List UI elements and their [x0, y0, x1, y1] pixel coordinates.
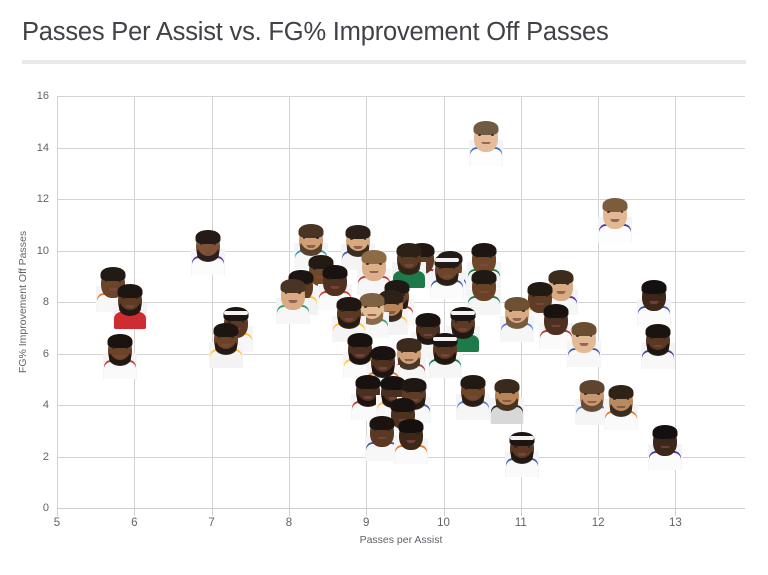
player-headshot-icon	[632, 317, 684, 369]
x-axis-title: Passes per Assist	[57, 534, 745, 546]
x-axis-tick-mark	[289, 508, 290, 516]
player-headshot-icon	[385, 412, 437, 464]
y-axis-title-label: FG% Improvement Off Passes	[17, 231, 29, 373]
x-axis-tick-label: 8	[286, 517, 292, 529]
scatter-point-headshot[interactable]	[267, 272, 319, 324]
y-axis-tick-label: 0	[43, 502, 49, 514]
player-headshot-icon	[267, 272, 319, 324]
scatter-point-headshot[interactable]	[481, 372, 533, 424]
x-axis-tick-label: 7	[208, 517, 214, 529]
x-axis-tick-label: 13	[669, 517, 682, 529]
scatter-point-headshot[interactable]	[639, 418, 691, 470]
player-headshot-icon	[558, 315, 610, 367]
scatter-chart: Passes Per Assist vs. FG% Improvement Of…	[0, 0, 768, 575]
x-axis-tick-mark	[675, 508, 676, 516]
y-axis-tick-label: 12	[37, 193, 49, 205]
y-axis-tick-label: 8	[43, 296, 49, 308]
title-divider	[22, 60, 746, 64]
y-axis-title: FG% Improvement Off Passes	[16, 96, 30, 508]
x-axis-tick-mark	[598, 508, 599, 516]
scatter-point-headshot[interactable]	[182, 223, 234, 275]
player-headshot-icon	[200, 316, 252, 368]
scatter-point-headshot[interactable]	[589, 191, 641, 243]
y-gridline	[57, 508, 745, 509]
scatter-point-headshot[interactable]	[94, 327, 146, 379]
x-axis-tick-mark	[521, 508, 522, 516]
y-axis-tick-label: 2	[43, 451, 49, 463]
x-axis-tick-mark	[444, 508, 445, 516]
scatter-point-headshot[interactable]	[496, 425, 548, 477]
plot-area: 02468101214165678910111213	[57, 96, 745, 508]
x-axis-tick-label: 6	[131, 517, 137, 529]
x-axis-tick-label: 9	[363, 517, 369, 529]
x-gridline	[57, 96, 58, 508]
x-gridline	[598, 96, 599, 508]
page-title: Passes Per Assist vs. FG% Improvement Of…	[22, 18, 609, 47]
player-headshot-icon	[460, 114, 512, 166]
x-axis-tick-label: 5	[54, 517, 60, 529]
x-axis-tick-label: 11	[515, 517, 527, 529]
y-axis-tick-label: 14	[37, 142, 49, 154]
player-headshot-icon	[182, 223, 234, 275]
y-axis-tick-label: 6	[43, 348, 49, 360]
player-headshot-icon	[496, 425, 548, 477]
y-gridline	[57, 199, 745, 200]
y-gridline	[57, 148, 745, 149]
x-axis-tick-mark	[57, 508, 58, 516]
player-headshot-icon	[639, 418, 691, 470]
player-headshot-icon	[589, 191, 641, 243]
player-headshot-icon	[104, 277, 156, 329]
x-axis-tick-label: 12	[592, 517, 605, 529]
x-axis-tick-mark	[134, 508, 135, 516]
x-axis-title-label: Passes per Assist	[360, 534, 443, 546]
player-headshot-icon	[481, 372, 533, 424]
scatter-point-headshot[interactable]	[632, 317, 684, 369]
y-gridline	[57, 96, 745, 97]
x-axis-tick-mark	[212, 508, 213, 516]
x-axis-tick-label: 10	[437, 517, 450, 529]
scatter-point-headshot[interactable]	[104, 277, 156, 329]
scatter-point-headshot[interactable]	[460, 114, 512, 166]
scatter-point-headshot[interactable]	[558, 315, 610, 367]
y-axis-tick-label: 10	[37, 245, 49, 257]
y-axis-tick-label: 16	[37, 90, 49, 102]
x-axis-tick-mark	[366, 508, 367, 516]
player-headshot-icon	[94, 327, 146, 379]
y-axis-tick-label: 4	[43, 399, 49, 411]
scatter-point-headshot[interactable]	[385, 412, 437, 464]
scatter-point-headshot[interactable]	[200, 316, 252, 368]
